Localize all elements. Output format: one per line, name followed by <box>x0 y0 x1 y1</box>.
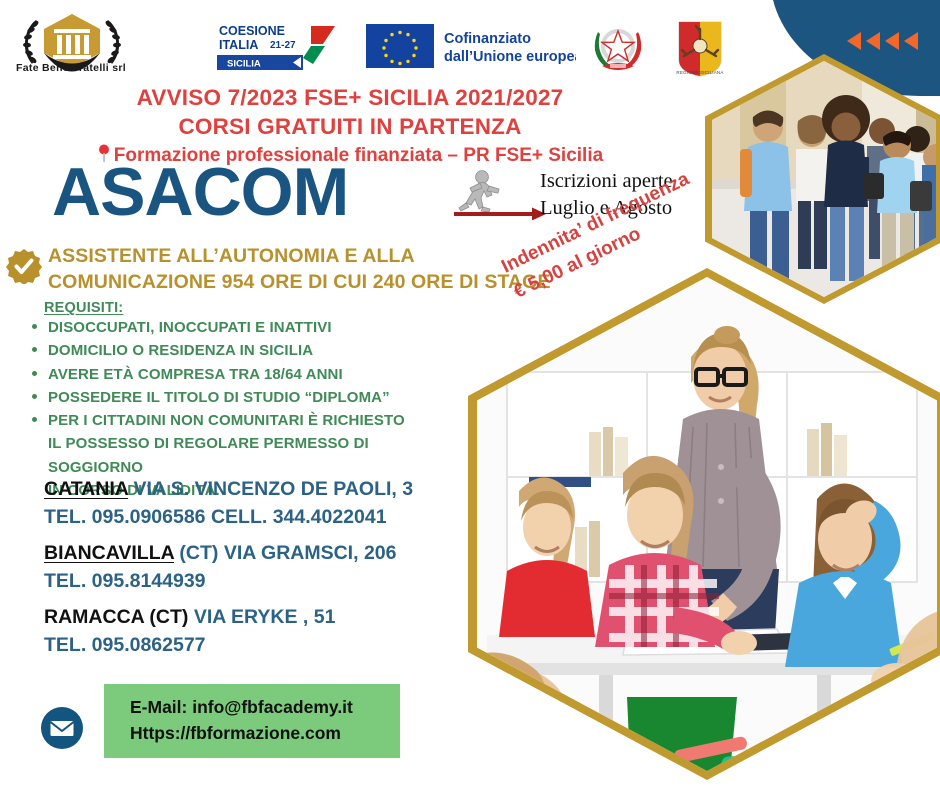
course-acronym: ASACOM <box>52 158 348 226</box>
chevron-left-icon <box>866 32 880 50</box>
phone-line: TEL. 095.8144939 <box>44 568 484 596</box>
phone-line: TEL. 095.0906586 CELL. 344.4022041 <box>44 504 484 532</box>
bullet-icon <box>32 371 37 376</box>
email-text[interactable]: E-Mail: info@fbfacademy.it <box>130 695 400 721</box>
envelope-icon[interactable] <box>40 706 84 750</box>
svg-text:SICILIA: SICILIA <box>227 59 261 70</box>
street-name: VIA ERYKE , 51 <box>194 606 336 628</box>
svg-text:21-27: 21-27 <box>270 40 296 51</box>
list-item: DOMICILIO O RESIDENZA IN SICILIA <box>24 339 464 362</box>
requirement-text: DISOCCUPATI, INOCCUPATI E INATTIVI <box>48 319 332 336</box>
list-item: AVERE ETÀ COMPRESA TRA 18/64 ANNI <box>24 363 464 386</box>
requirements-label: REQUISITI: <box>44 300 123 316</box>
list-item: POSSEDERE IL TITOLO DI STUDIO “DIPLOMA” <box>24 386 464 409</box>
city-name: CATANIA <box>44 478 128 500</box>
list-item: DISOCCUPATI, INOCCUPATI E INATTIVI <box>24 316 464 339</box>
hex-photo-clip <box>477 277 937 771</box>
running-person-icon <box>452 168 548 220</box>
svg-text:ITALIA: ITALIA <box>219 38 258 52</box>
address-line: CATANIA VIA S. VINCENZO DE PAOLI, 3 <box>44 476 484 504</box>
students-photo-hexagon <box>705 54 940 304</box>
svg-text:COESIONE: COESIONE <box>219 24 285 38</box>
requirement-text: DOMICILIO O RESIDENZA IN SICILIA <box>48 342 313 359</box>
requirements-list: DISOCCUPATI, INOCCUPATI E INATTIVI DOMIC… <box>24 316 464 502</box>
classroom-photo-hexagon <box>468 268 940 780</box>
headline-line-2: CORSI GRATUITI IN PARTENZA <box>0 113 700 142</box>
contact-box: E-Mail: info@fbfacademy.it Https://fbfor… <box>104 684 400 758</box>
chevron-left-icon <box>885 32 899 50</box>
svg-text:dall’Unione europea: dall’Unione europea <box>444 49 576 65</box>
logo-strip: Fate Bene Fratelli srl COESIONE ITALIA 2… <box>0 0 790 86</box>
european-union-logo: Cofinanziato dall’Unione europea <box>366 22 576 70</box>
street-name: (CT) VIA GRAMSCI, 206 <box>179 542 396 564</box>
headline-line-1: AVVISO 7/2023 FSE+ SICILIA 2021/2027 <box>0 84 700 113</box>
address-block: BIANCAVILLA (CT) VIA GRAMSCI, 206 TEL. 0… <box>44 540 484 595</box>
requirement-text: AVERE ETÀ COMPRESA TRA 18/64 ANNI <box>48 366 343 383</box>
corner-arrow-group <box>847 32 918 50</box>
teacher-with-pupils-photo <box>477 277 937 771</box>
website-text[interactable]: Https://fbformazione.com <box>130 721 400 747</box>
bullet-icon <box>32 417 37 422</box>
bullet-icon <box>32 324 37 329</box>
street-name: VIA S. VINCENZO DE PAOLI, 3 <box>134 478 414 500</box>
chevron-left-icon <box>904 32 918 50</box>
city-name: BIANCAVILLA <box>44 542 174 564</box>
repubblica-italiana-emblem <box>592 20 644 76</box>
address-line: BIANCAVILLA (CT) VIA GRAMSCI, 206 <box>44 540 484 568</box>
phone-line: TEL. 095.0862577 <box>44 632 484 660</box>
address-line: RAMACCA (CT) VIA ERYKE , 51 <box>44 604 484 632</box>
fate-bene-fratelli-logo <box>12 8 132 86</box>
requirement-text: PER I CITTADINI NON COMUNITARI È RICHIES… <box>48 412 405 429</box>
bullet-icon <box>32 394 37 399</box>
check-badge-icon <box>6 248 42 284</box>
coesione-italia-logo: COESIONE ITALIA 21-27 SICILIA <box>213 18 339 74</box>
svg-text:Cofinanziato: Cofinanziato <box>444 31 531 47</box>
brand-name: Fate Bene Fratelli srl <box>5 62 137 74</box>
address-block: RAMACCA (CT) VIA ERYKE , 51 TEL. 095.086… <box>44 604 484 659</box>
city-name: RAMACCA (CT) <box>44 606 188 628</box>
chevron-left-icon <box>847 32 861 50</box>
requirement-text: POSSEDERE IL TITOLO DI STUDIO “DIPLOMA” <box>48 389 390 406</box>
address-block: CATANIA VIA S. VINCENZO DE PAOLI, 3 TEL.… <box>44 476 484 531</box>
requirement-text-cont: IL POSSESSO DI REGOLARE PERMESSO DI SOGG… <box>48 432 464 479</box>
bullet-icon <box>32 347 37 352</box>
